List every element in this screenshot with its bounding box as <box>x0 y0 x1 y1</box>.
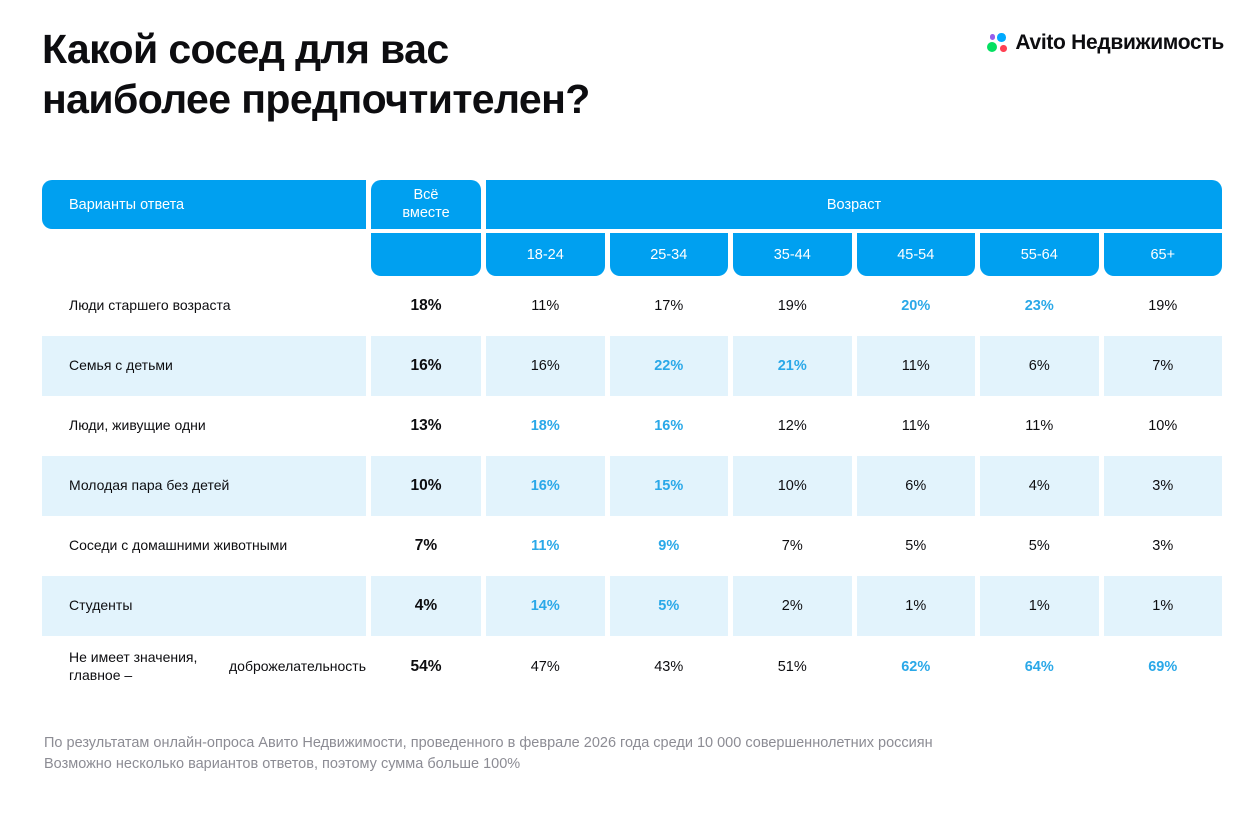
footnote-line-1: По результатам онлайн-опроса Авито Недви… <box>44 733 933 754</box>
cell-value: 19% <box>1104 276 1223 336</box>
page-title-line-1: Какой сосед для вас <box>42 24 590 74</box>
cell-value: 69% <box>1104 636 1223 698</box>
table-row: Люди старшего возраста18%11%17%19%20%23%… <box>42 276 1222 336</box>
footnote-line-2: Возможно несколько вариантов ответов, по… <box>44 754 933 775</box>
column-header-age-35-44: 35-44 <box>733 233 852 276</box>
table-header-top-row: Варианты ответа Всё вместе Возраст <box>42 180 1222 229</box>
column-header-total: Всё вместе <box>371 180 481 229</box>
page-title-line-2: наиболее предпочтителен? <box>42 74 590 124</box>
cell-total: 7% <box>371 516 481 576</box>
logo-dot-blue-icon <box>997 33 1006 42</box>
footnote: По результатам онлайн-опроса Авито Недви… <box>44 733 933 775</box>
cell-value: 16% <box>610 396 729 456</box>
logo-dot-purple-icon <box>990 34 996 40</box>
cell-total: 16% <box>371 336 481 396</box>
cell-value: 11% <box>486 516 605 576</box>
column-header-age-group: Возраст <box>486 180 1222 229</box>
cell-value: 47% <box>486 636 605 698</box>
cell-value: 23% <box>980 276 1099 336</box>
column-header-total-line-2: вместе <box>402 205 449 222</box>
row-age-cells: 16%22%21%11%6%7% <box>486 336 1222 396</box>
cell-value: 6% <box>980 336 1099 396</box>
cell-value: 7% <box>1104 336 1223 396</box>
row-label: Молодая пара без детей <box>42 456 366 516</box>
cell-value: 10% <box>733 456 852 516</box>
cell-value: 3% <box>1104 456 1223 516</box>
header-total-continuation <box>371 233 481 276</box>
row-label: Люди старшего возраста <box>42 276 366 336</box>
table-header-bottom-row: 18-2425-3435-4445-5455-6465+ <box>42 233 1222 276</box>
row-age-cells: 11%17%19%20%23%19% <box>486 276 1222 336</box>
column-header-age-18-24: 18-24 <box>486 233 605 276</box>
cell-value: 17% <box>610 276 729 336</box>
row-label: Соседи с домашними животными <box>42 516 366 576</box>
header-gap <box>605 233 610 276</box>
age-subheader-group: 18-2425-3435-4445-5455-6465+ <box>486 233 1222 276</box>
cell-total: 10% <box>371 456 481 516</box>
cell-value: 1% <box>857 576 976 636</box>
column-header-total-line-1: Всё <box>402 187 449 204</box>
cell-total: 18% <box>371 276 481 336</box>
cell-value: 43% <box>610 636 729 698</box>
cell-value: 19% <box>733 276 852 336</box>
cell-value: 1% <box>980 576 1099 636</box>
logo-dot-red-icon <box>1000 45 1007 52</box>
cell-value: 18% <box>486 396 605 456</box>
page-header: Какой сосед для вас наиболее предпочтите… <box>42 24 1224 124</box>
row-label: Студенты <box>42 576 366 636</box>
table-row: Люди, живущие одни13%18%16%12%11%11%10% <box>42 396 1222 456</box>
cell-total: 13% <box>371 396 481 456</box>
column-header-answer-options: Варианты ответа <box>42 180 366 229</box>
header-gap <box>1099 233 1104 276</box>
cell-value: 6% <box>857 456 976 516</box>
survey-table: Варианты ответа Всё вместе Возраст 18-24… <box>42 180 1222 698</box>
cell-value: 9% <box>610 516 729 576</box>
avito-logo: Avito Недвижимость <box>987 31 1224 55</box>
cell-value: 3% <box>1104 516 1223 576</box>
cell-value: 4% <box>980 456 1099 516</box>
cell-value: 5% <box>610 576 729 636</box>
row-label: Семья с детьми <box>42 336 366 396</box>
header-spacer-label <box>42 233 366 276</box>
cell-value: 51% <box>733 636 852 698</box>
row-label: Люди, живущие одни <box>42 396 366 456</box>
logo-dot-green-icon <box>987 42 997 52</box>
page-title: Какой сосед для вас наиболее предпочтите… <box>42 24 590 124</box>
cell-total: 54% <box>371 636 481 698</box>
cell-value: 62% <box>857 636 976 698</box>
row-age-cells: 47%43%51%62%64%69% <box>486 636 1222 698</box>
cell-value: 1% <box>1104 576 1223 636</box>
row-label: Не имеет значения, главное –доброжелател… <box>42 636 366 698</box>
infographic-page: Какой сосед для вас наиболее предпочтите… <box>0 0 1260 821</box>
cell-value: 5% <box>857 516 976 576</box>
cell-value: 7% <box>733 516 852 576</box>
cell-value: 22% <box>610 336 729 396</box>
column-header-age-45-54: 45-54 <box>857 233 976 276</box>
cell-value: 2% <box>733 576 852 636</box>
table-row: Студенты4%14%5%2%1%1%1% <box>42 576 1222 636</box>
column-header-age-65+: 65+ <box>1104 233 1223 276</box>
cell-value: 11% <box>980 396 1099 456</box>
cell-value: 11% <box>857 336 976 396</box>
cell-value: 16% <box>486 336 605 396</box>
avito-dots-icon <box>987 33 1008 54</box>
table-row: Семья с детьми16%16%22%21%11%6%7% <box>42 336 1222 396</box>
table-row: Соседи с домашними животными7%11%9%7%5%5… <box>42 516 1222 576</box>
table-row: Молодая пара без детей10%16%15%10%6%4%3% <box>42 456 1222 516</box>
cell-value: 11% <box>486 276 605 336</box>
row-age-cells: 14%5%2%1%1%1% <box>486 576 1222 636</box>
column-header-age-55-64: 55-64 <box>980 233 1099 276</box>
cell-value: 15% <box>610 456 729 516</box>
cell-value: 20% <box>857 276 976 336</box>
header-gap <box>852 233 857 276</box>
row-age-cells: 16%15%10%6%4%3% <box>486 456 1222 516</box>
cell-total: 4% <box>371 576 481 636</box>
cell-value: 5% <box>980 516 1099 576</box>
table-body: Люди старшего возраста18%11%17%19%20%23%… <box>42 276 1222 698</box>
cell-value: 11% <box>857 396 976 456</box>
table-row: Не имеет значения, главное –доброжелател… <box>42 636 1222 698</box>
cell-value: 10% <box>1104 396 1223 456</box>
cell-value: 64% <box>980 636 1099 698</box>
cell-value: 16% <box>486 456 605 516</box>
cell-value: 12% <box>733 396 852 456</box>
cell-value: 14% <box>486 576 605 636</box>
column-header-age-25-34: 25-34 <box>610 233 729 276</box>
row-age-cells: 11%9%7%5%5%3% <box>486 516 1222 576</box>
brand-name: Avito Недвижимость <box>1015 31 1224 55</box>
cell-value: 21% <box>733 336 852 396</box>
row-age-cells: 18%16%12%11%11%10% <box>486 396 1222 456</box>
